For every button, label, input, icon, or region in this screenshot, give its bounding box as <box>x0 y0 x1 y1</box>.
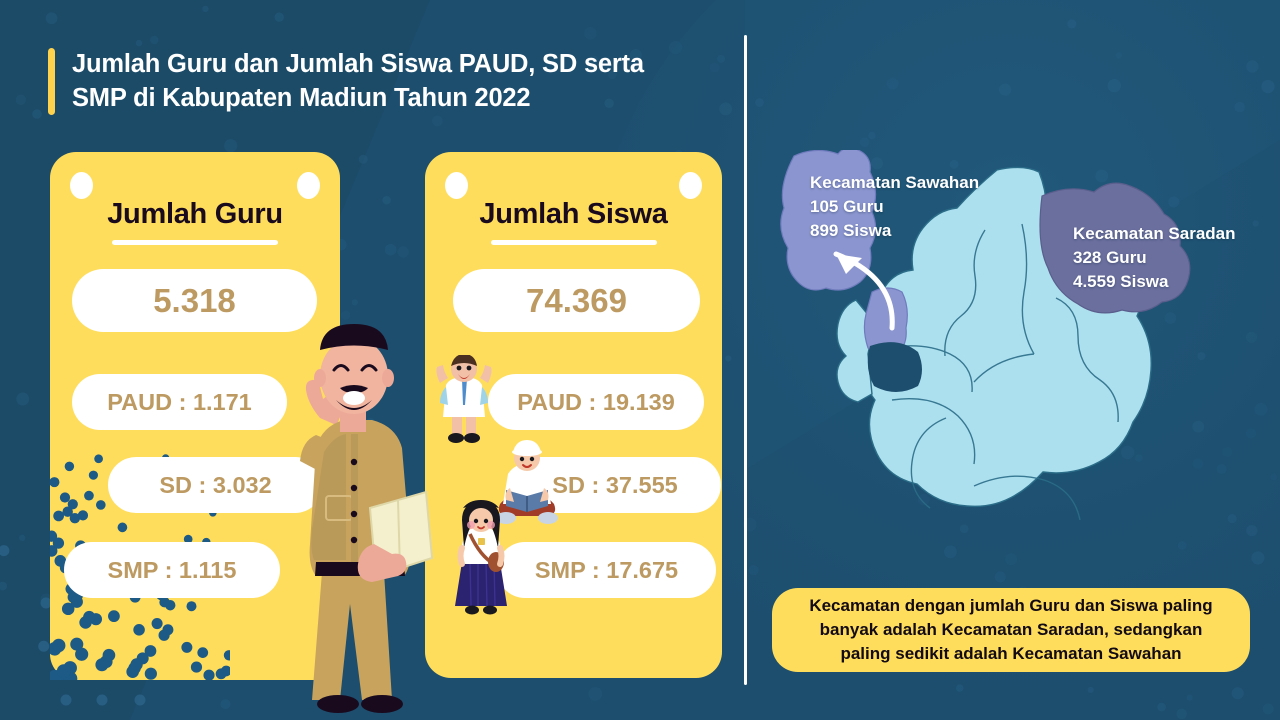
right-panel: Jumlah Guru dan Jumlah Siswa jenjang pen… <box>745 0 1280 720</box>
student-paud-illustration-icon <box>428 355 500 445</box>
left-panel: Jumlah Guru dan Jumlah Siswa PAUD, SD se… <box>0 0 745 720</box>
main-title: Jumlah Guru dan Jumlah Siswa PAUD, SD se… <box>48 48 728 115</box>
main-title-text: Jumlah Guru dan Jumlah Siswa PAUD, SD se… <box>55 48 644 115</box>
punch-hole-right <box>297 172 320 199</box>
title-accent-bar <box>48 48 55 115</box>
siswa-smp-row: SMP : 17.675 <box>497 542 716 598</box>
teacher-illustration-icon <box>258 300 448 720</box>
siswa-total-value: 74.369 <box>453 269 700 332</box>
punch-hole-right <box>679 172 702 199</box>
punch-hole-left <box>70 172 93 199</box>
siswa-paud-row: PAUD : 19.139 <box>488 374 704 430</box>
card-guru-heading: Jumlah Guru <box>50 198 340 231</box>
vertical-divider <box>744 35 747 685</box>
card-siswa-heading: Jumlah Siswa <box>425 198 722 231</box>
guru-paud-row: PAUD : 1.171 <box>72 374 287 430</box>
card-guru-underline <box>112 240 278 245</box>
card-siswa-underline <box>491 240 657 245</box>
student-smp-illustration-icon <box>450 500 512 618</box>
punch-hole-left <box>445 172 468 199</box>
guru-smp-row: SMP : 1.115 <box>64 542 280 598</box>
